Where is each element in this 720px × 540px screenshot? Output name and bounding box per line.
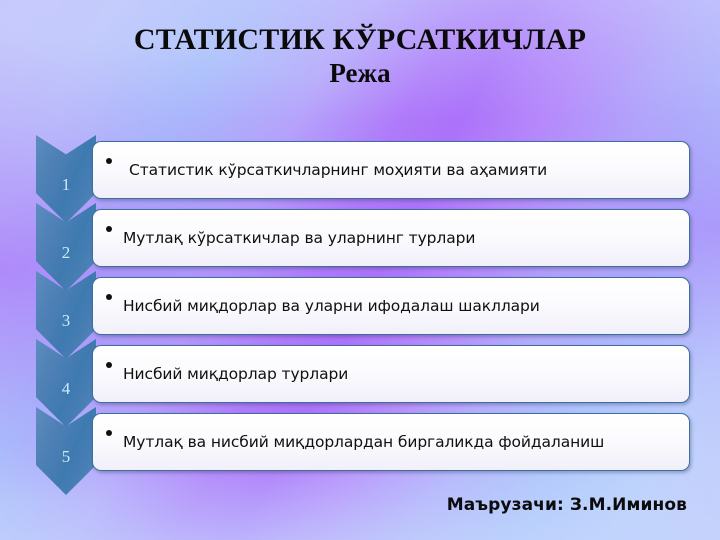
bullet-icon [106, 294, 112, 300]
bullet-icon [106, 430, 112, 436]
agenda-item-box[interactable]: Мутлақ ва нисбий миқдорлардан биргаликда… [92, 413, 690, 471]
agenda-item-number: 3 [62, 299, 71, 331]
agenda-item-box[interactable]: Мутлақ кўрсаткичлар ва уларнинг турлари [92, 209, 690, 267]
bullet-icon [106, 362, 112, 368]
agenda-item-number: 1 [62, 163, 71, 195]
agenda-item-label: Мутлақ ва нисбий миқдорлардан биргаликда… [123, 433, 604, 452]
slide-title: СТАТИСТИК КЎРСАТКИЧЛАР [0, 22, 720, 57]
slide-title-block: СТАТИСТИК КЎРСАТКИЧЛАР Режа [0, 22, 720, 91]
bullet-icon [106, 158, 112, 164]
presenter-credit: Маърузачи: З.М.Иминов [447, 495, 687, 515]
slide-subtitle: Режа [0, 57, 720, 91]
agenda-item-label: Мутлақ кўрсаткичлар ва уларнинг турлари [123, 229, 475, 248]
agenda-item-number: 5 [62, 435, 71, 467]
agenda-item-label: Статистик кўрсаткичларнинг моҳияти ва аҳ… [129, 161, 547, 180]
slide-canvas: СТАТИСТИК КЎРСАТКИЧЛАР Режа 1Статистик к… [0, 0, 720, 540]
bullet-icon [106, 226, 112, 232]
agenda-item-box[interactable]: Нисбий миқдорлар турлари [92, 345, 690, 403]
agenda-item-label: Нисбий миқдорлар ва уларни ифодалаш шакл… [123, 297, 540, 316]
agenda-item-box[interactable]: Статистик кўрсаткичларнинг моҳияти ва аҳ… [92, 141, 690, 199]
agenda-item-number: 4 [62, 367, 71, 399]
agenda-item-box[interactable]: Нисбий миқдорлар ва уларни ифодалаш шакл… [92, 277, 690, 335]
agenda-item-label: Нисбий миқдорлар турлари [123, 365, 348, 384]
agenda-item-number: 2 [62, 231, 71, 263]
